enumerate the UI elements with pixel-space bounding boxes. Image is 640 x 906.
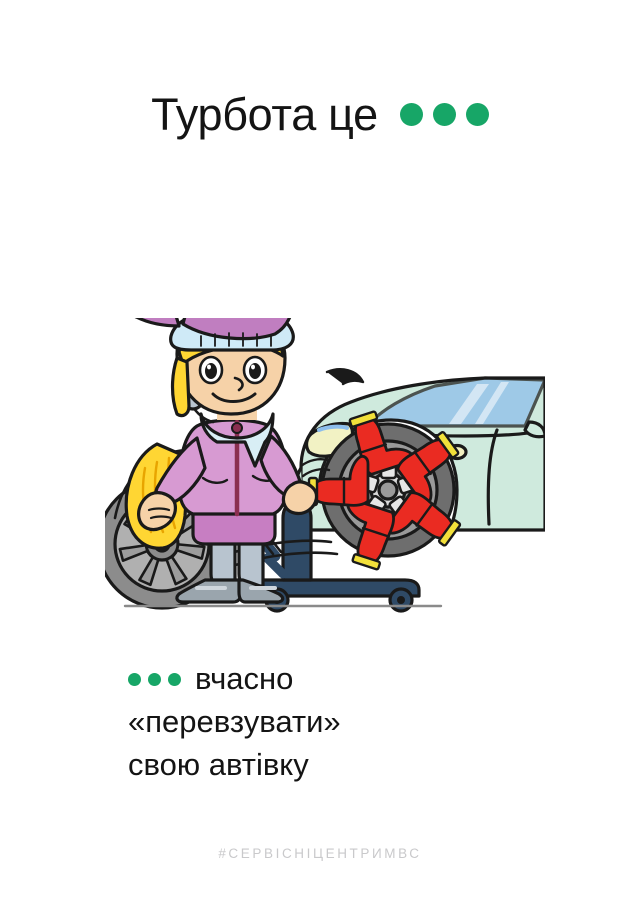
footer: #СЕРВІСНІЦЕНТРИМВС — [0, 845, 640, 863]
headline-text: Турбота це — [151, 92, 378, 137]
poster-canvas: Турбота це — [0, 0, 640, 906]
green-dot-icon — [168, 673, 181, 686]
copy-line: свою автівку — [128, 744, 528, 787]
headline-dots — [400, 103, 489, 126]
copy-line-text: «перевзувати» — [128, 701, 341, 744]
copy-line: «перевзувати» — [128, 701, 528, 744]
green-dot-icon — [128, 673, 141, 686]
green-dot-icon — [466, 103, 489, 126]
green-dot-icon — [400, 103, 423, 126]
copy-line: вчасно — [128, 658, 528, 701]
green-dot-icon — [148, 673, 161, 686]
illustration-girl-changing-car-tyre — [105, 318, 545, 618]
footer-hashtag: #СЕРВІСНІЦЕНТРИМВС — [218, 846, 421, 861]
body-copy: вчасно «перевзувати» свою автівку — [128, 658, 528, 786]
copy-line-text: свою автівку — [128, 744, 309, 787]
inline-green-dots — [128, 673, 181, 686]
green-dot-icon — [433, 103, 456, 126]
copy-line-text: вчасно — [195, 658, 293, 701]
headline: Турбота це — [0, 92, 640, 137]
